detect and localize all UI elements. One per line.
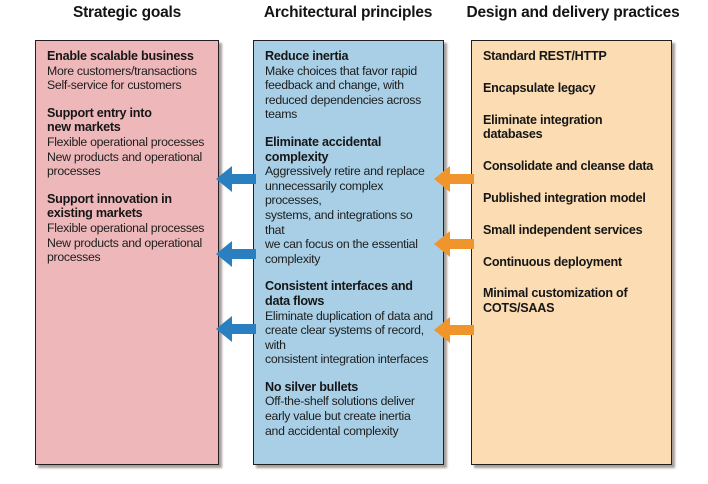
design-and-delivery-practices-box: Standard REST/HTTPEncapsulate legacyElim… [471,40,672,465]
column-title-architectural-principles: Architectural principles [252,4,444,22]
design-practice-item: Eliminate integrationdatabases [483,113,661,143]
design-practice-item: Published integration model [483,191,661,206]
architectural-principle-group: No silver bulletsOff-the-shelf solutions… [265,380,433,438]
arrow-left-blue-3 [214,312,258,346]
design-practice-item: Consolidate and cleanse data [483,159,661,174]
architectural-principle-group-heading: Eliminate accidentalcomplexity [265,135,433,164]
design-practice-item: Minimal customization ofCOTS/SAAS [483,286,661,316]
strategic-goal-group: Enable scalable businessMore customers/t… [47,49,208,93]
architectural-principle-group-body: Eliminate duplication of data andcreate … [265,309,433,367]
arrow-left-blue-2 [214,237,258,271]
architectural-principle-group-heading: No silver bullets [265,380,433,395]
strategic-goals-content: Enable scalable businessMore customers/t… [36,41,218,464]
strategic-goals-box: Enable scalable businessMore customers/t… [35,40,219,465]
architectural-principle-group: Consistent interfaces anddata flowsElimi… [265,279,433,367]
strategic-goal-group: Support innovation inexisting marketsFle… [47,192,208,265]
design-practice-item: Standard REST/HTTP [483,49,661,64]
architectural-principle-group-body: Off-the-shelf solutions deliverearly val… [265,394,433,438]
strategic-goal-group-heading: Enable scalable business [47,49,208,64]
design-practice-item: Small independent services [483,223,661,238]
design-practice-item: Encapsulate legacy [483,81,661,96]
design-and-delivery-practices-content: Standard REST/HTTPEncapsulate legacyElim… [472,41,671,464]
arrow-left-orange-3 [432,313,476,347]
strategic-goal-group: Support entry intonew marketsFlexible op… [47,106,208,179]
architectural-principle-group-heading: Consistent interfaces anddata flows [265,279,433,308]
design-practice-item: Continuous deployment [483,255,661,270]
architectural-principles-content: Reduce inertiaMake choices that favor ra… [254,41,443,464]
architectural-principle-group: Eliminate accidentalcomplexityAggressive… [265,135,433,266]
diagram-canvas: Strategic goals Architectural principles… [0,0,708,484]
arrow-left-blue-1 [214,162,258,196]
strategic-goal-group-heading: Support entry intonew markets [47,106,208,135]
architectural-principle-group-body: Aggressively retire and replaceunnecessa… [265,164,433,266]
arrow-left-orange-1 [432,162,476,196]
column-title-strategic-goals: Strategic goals [35,4,219,22]
strategic-goal-group-body: Flexible operational processesNew produc… [47,135,208,179]
architectural-principle-group-body: Make choices that favor rapidfeedback an… [265,64,433,122]
arrow-left-orange-2 [432,227,476,261]
strategic-goal-group-body: Flexible operational processesNew produc… [47,221,208,265]
architectural-principle-group-heading: Reduce inertia [265,49,433,64]
column-title-design-and-delivery-practices: Design and delivery practices [455,4,691,22]
strategic-goal-group-body: More customers/transactionsSelf-service … [47,64,208,93]
architectural-principle-group: Reduce inertiaMake choices that favor ra… [265,49,433,122]
architectural-principles-box: Reduce inertiaMake choices that favor ra… [253,40,444,465]
strategic-goal-group-heading: Support innovation inexisting markets [47,192,208,221]
